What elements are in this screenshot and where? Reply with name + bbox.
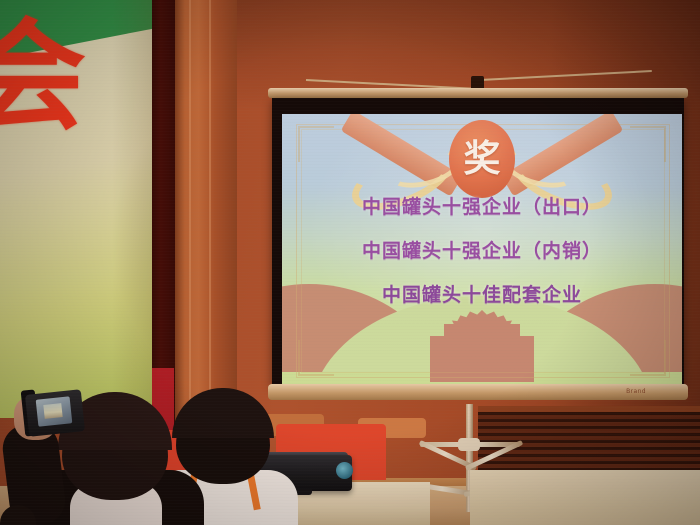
screen-bottom-bar xyxy=(268,384,688,400)
stage-banner: 会 xyxy=(0,0,152,418)
screen-top-bar xyxy=(268,88,688,98)
slide-corner-bottom-right xyxy=(630,340,666,376)
presentation-slide: 奖 中国罐头十强企业（出口） 中国罐头十强企业（内销） 中国罐头十佳配套企业 xyxy=(282,114,682,390)
banner-character: 会 xyxy=(0,18,86,138)
award-emblem: 奖 xyxy=(347,116,617,202)
slide-corner-top-right xyxy=(630,126,666,162)
slide-text-block: 中国罐头十强企业（出口） 中国罐头十强企业（内销） 中国罐头十佳配套企业 xyxy=(282,198,682,330)
award-medal: 奖 xyxy=(449,120,515,198)
pilaster-trim-line-1 xyxy=(189,0,191,430)
pilaster-trim-line-2 xyxy=(209,0,211,430)
camera-lcd-preview-image xyxy=(43,403,62,419)
tripod-hub xyxy=(458,438,480,451)
banner-edge-shadow xyxy=(112,0,152,418)
screen-brand-logo: Brand xyxy=(626,388,646,395)
slide-line-2: 中国罐头十强企业（内销） xyxy=(282,242,682,261)
wall-recess-shadow xyxy=(148,0,176,430)
slide-line-3: 中国罐头十佳配套企业 xyxy=(282,286,682,305)
screen-frame: 奖 中国罐头十强企业（出口） 中国罐头十强企业（内销） 中国罐头十佳配套企业 xyxy=(272,98,684,386)
projection-screen: 奖 中国罐头十强企业（出口） 中国罐头十强企业（内销） 中国罐头十佳配套企业 B… xyxy=(268,88,688,406)
slide-corner-top-left xyxy=(298,126,334,162)
screenshot-root: 会 xyxy=(0,0,700,525)
award-medal-character: 奖 xyxy=(464,140,501,177)
wall-pilaster xyxy=(175,0,237,430)
projector-lens xyxy=(336,462,353,479)
slide-line-1: 中国罐头十强企业（出口） xyxy=(282,198,682,217)
slide-corner-bottom-left xyxy=(298,340,334,376)
table-right xyxy=(470,470,700,525)
